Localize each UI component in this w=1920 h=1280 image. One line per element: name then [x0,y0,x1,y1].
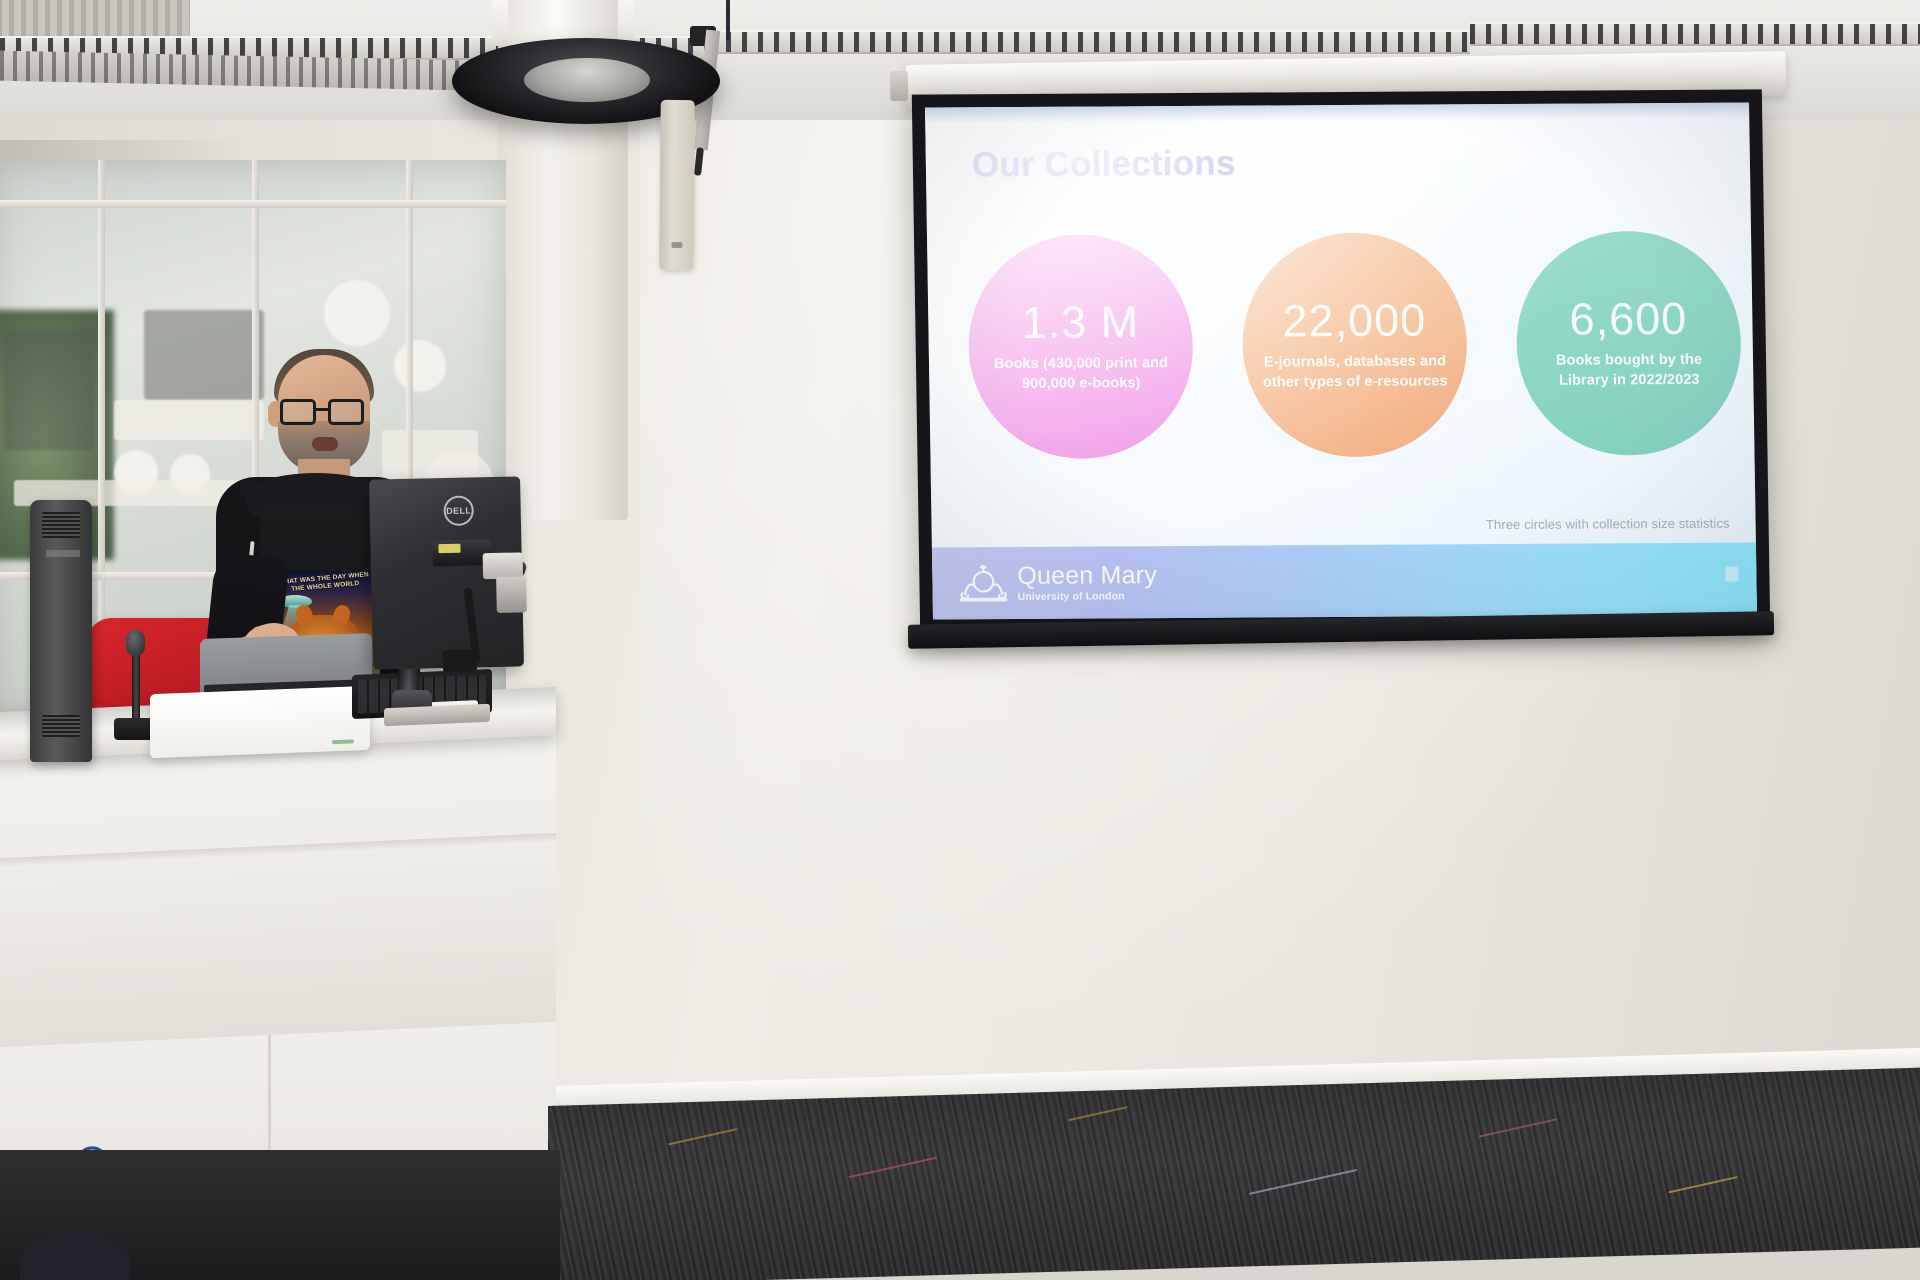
stat-caption: Books bought by the Library in 2022/2023 [1556,350,1703,391]
stat-caption-line2: 900,000 e-books) [1022,375,1141,392]
cable-tray [710,30,1470,54]
monitor-sticker [438,544,460,553]
stat-caption-line2: Library in 2022/2023 [1559,372,1700,389]
slide-queen-mary-logo: Queen Mary University of London [958,561,1157,604]
slide-footer: Queen Mary University of London [932,542,1757,619]
slide-title: Our Collections [972,144,1236,186]
glasses-bridge [316,408,328,411]
stat-caption-line1: E-journals, databases and [1264,353,1446,370]
stat-caption-line1: Books bought by the [1556,352,1702,369]
presenter-mouth [312,437,338,451]
slide-brand-sub: University of London [1018,590,1158,603]
slide-alt-text-caption: Three circles with collection size stati… [1486,516,1730,532]
projector-screen-frame: Our Collections 1.3 M Books (430,000 pri… [912,89,1770,632]
wall-speaker-icon [659,100,694,270]
slide-footer-marker [1725,567,1738,582]
carpet-fleck [1249,1169,1357,1195]
room-scene: THAT WAS THE DAY WHEN THE WHOLE WORLD CA… [0,0,1920,1280]
speaker-brand-label [46,550,80,557]
glass-reflection [324,280,390,346]
crown-icon [958,562,1009,604]
speaker-grille [42,512,80,538]
stat-circle-ejournals: 22,000 E-journals, databases and other t… [1241,232,1469,457]
slide-brand-word: Queen Mary [1017,563,1157,589]
tshirt-top-text: THAT WAS THE DAY WHEN THE WHOLE WORLD [273,571,376,596]
usb-adapter [483,552,524,579]
stat-circle-books: 1.3 M Books (430,000 print and 900,000 e… [967,234,1195,459]
microphone-capsule-icon [126,630,145,656]
stat-caption-line1: Books (430,000 print and [994,355,1168,372]
glasses-lens-right [328,399,364,425]
tower-speaker [30,500,92,762]
podium-front [0,722,556,1048]
dell-logo-icon: DELL [443,495,474,526]
stat-caption: E-journals, databases and other types of… [1262,351,1447,392]
glass-reflection [4,330,94,450]
diffuser-inner-disc [524,58,650,102]
cable-tray [1470,22,1920,46]
window-mullion [0,200,506,208]
stats-circle-group: 1.3 M Books (430,000 print and 900,000 e… [967,225,1743,466]
glasses-lens-left [280,399,316,425]
av-control-panel[interactable] [150,686,370,758]
stat-caption: Books (430,000 print and 900,000 e-books… [994,353,1169,394]
stat-value: 6,600 [1569,296,1687,342]
dell-monitor[interactable]: DELL [369,476,524,669]
stat-circle-books-bought: 6,600 Books bought by the Library in 202… [1515,231,1743,456]
speaker-grille [42,715,80,737]
ceiling-cable [726,0,730,40]
usb-adapter-secondary [496,576,527,613]
stat-caption-line2: other types of e-resources [1263,373,1448,390]
presentation-slide[interactable]: Our Collections 1.3 M Books (430,000 pri… [925,103,1757,620]
monitor-connector [443,649,477,672]
eyeglasses-icon [280,399,372,425]
stat-value: 1.3 M [1021,299,1139,345]
slide-brand-text: Queen Mary University of London [1017,563,1157,603]
stat-value: 22,000 [1282,297,1426,343]
carpet-fleck [1668,1176,1737,1193]
